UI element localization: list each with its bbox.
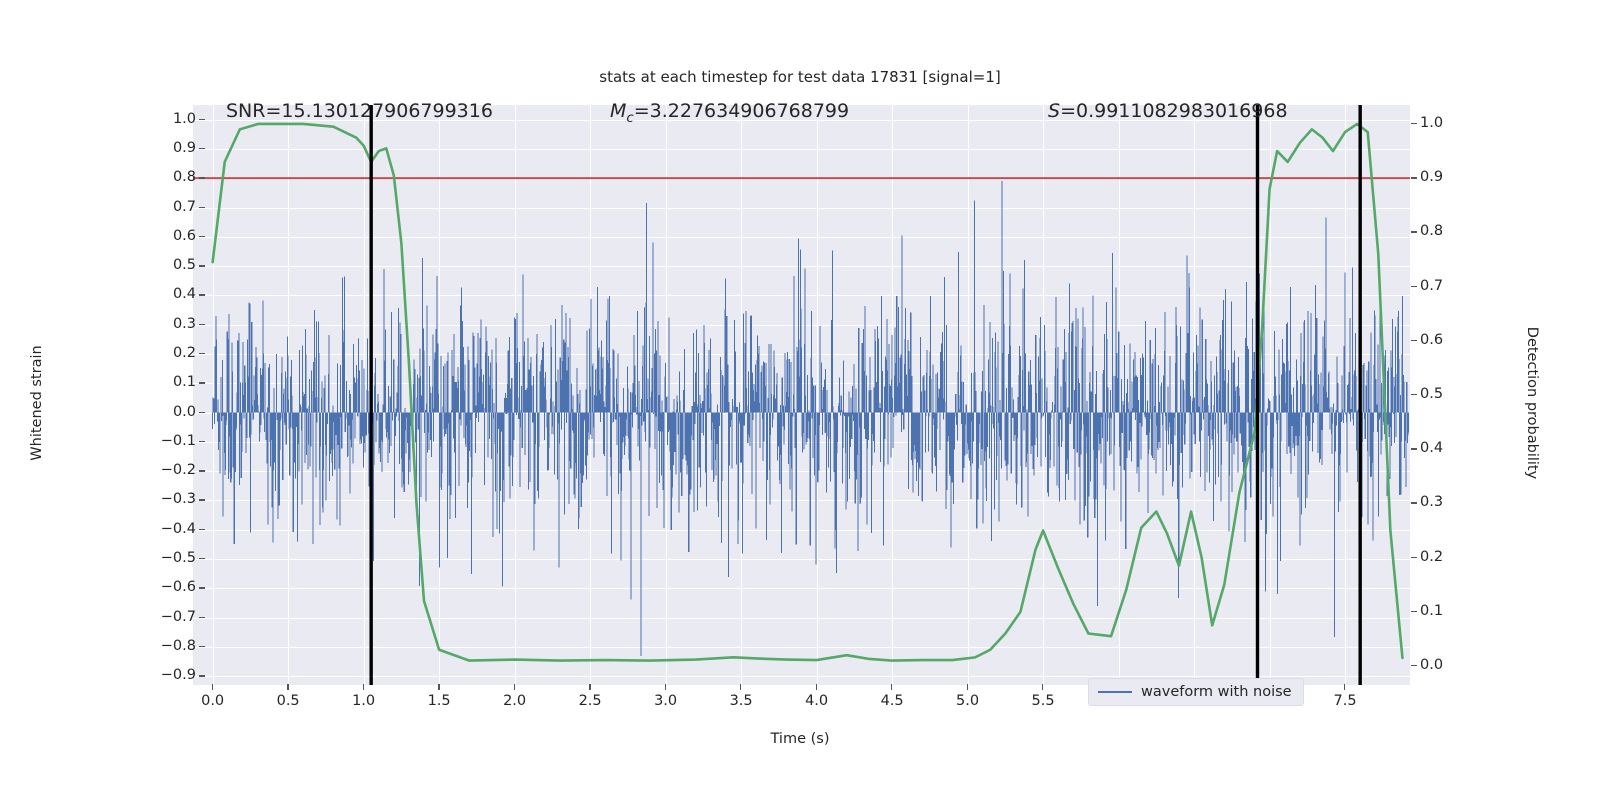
annotation-score: S=0.9911082983016968 (1048, 100, 1288, 122)
y-tick-right: 0.8 (1420, 223, 1490, 239)
matplotlib-figure: stats at each timestep for test data 178… (0, 0, 1600, 800)
y-tick-right: 0.4 (1420, 440, 1490, 456)
y-tick-left: 1.0 (136, 111, 196, 127)
y-tick-left: 0.1 (136, 374, 196, 390)
x-tick: 2.5 (555, 693, 625, 709)
annotation-snr-value: 15.130127906799316 (281, 100, 493, 122)
x-tick: 3.5 (706, 693, 776, 709)
y-tick-left: −0.3 (136, 491, 196, 507)
y-tick-left: 0.0 (136, 404, 196, 420)
y-tick-left: −0.5 (136, 550, 196, 566)
x-tick: 3.0 (631, 693, 701, 709)
x-tick: 4.0 (782, 693, 852, 709)
x-tick: 1.5 (404, 693, 474, 709)
y-tick-right: 0.6 (1420, 332, 1490, 348)
y-tick-left: −0.6 (136, 579, 196, 595)
y-tick-right: 0.3 (1420, 494, 1490, 510)
plot-area (193, 105, 1410, 685)
y-tick-left: 0.5 (136, 257, 196, 273)
y-tick-right: 1.0 (1420, 115, 1490, 131)
y-tick-right: 0.0 (1420, 657, 1490, 673)
x-tick: 0.0 (178, 693, 248, 709)
y-tick-left: 0.8 (136, 169, 196, 185)
annotation-s-value: 0.9911082983016968 (1076, 100, 1288, 122)
y-tick-left: −0.8 (136, 638, 196, 654)
y-tick-right: 0.1 (1420, 603, 1490, 619)
y-axis-label-left: Whitened strain (29, 303, 45, 503)
y-tick-left: 0.4 (136, 286, 196, 302)
annotation-s-equals: = (1060, 100, 1076, 122)
legend: waveform with noise (1088, 678, 1304, 706)
y-axis-label-right: Detection probability (1524, 303, 1540, 503)
annotation-mc-symbol: M (610, 100, 626, 122)
x-tick: 7.5 (1310, 693, 1380, 709)
x-tick: 5.0 (933, 693, 1003, 709)
y-tick-left: −0.4 (136, 521, 196, 537)
x-tick: 2.0 (480, 693, 550, 709)
page-title: stats at each timestep for test data 178… (0, 68, 1600, 86)
annotation-chirp-mass: Mc=3.227634906768799 (610, 100, 849, 126)
legend-label-waveform: waveform with noise (1141, 684, 1292, 700)
overlay-series (193, 105, 1410, 685)
legend-swatch-waveform (1098, 691, 1132, 694)
y-tick-left: 0.3 (136, 316, 196, 332)
y-tick-right: 0.2 (1420, 549, 1490, 565)
y-tick-right: 0.9 (1420, 169, 1490, 185)
x-tick: 5.5 (1008, 693, 1078, 709)
annotation-s-symbol: S (1048, 100, 1060, 122)
annotation-mc-equals: = (634, 100, 650, 122)
y-tick-left: 0.2 (136, 345, 196, 361)
x-tick: 0.5 (253, 693, 323, 709)
annotation-mc-value: 3.227634906768799 (650, 100, 849, 122)
y-tick-right: 0.7 (1420, 278, 1490, 294)
y-tick-left: −0.1 (136, 433, 196, 449)
y-tick-right: 0.5 (1420, 386, 1490, 402)
annotation-snr: SNR=15.130127906799316 (226, 100, 493, 122)
x-tick: 1.0 (329, 693, 399, 709)
y-tick-left: 0.9 (136, 140, 196, 156)
annotation-snr-label: SNR= (226, 100, 281, 122)
x-axis-label: Time (s) (0, 731, 1600, 747)
x-tick: 4.5 (857, 693, 927, 709)
detection-probability-curve (213, 124, 1403, 661)
y-tick-left: −0.2 (136, 462, 196, 478)
y-tick-left: −0.7 (136, 609, 196, 625)
y-tick-left: 0.6 (136, 228, 196, 244)
y-tick-left: −0.9 (136, 667, 196, 683)
annotation-mc-subscript: c (626, 111, 633, 126)
y-tick-left: 0.7 (136, 199, 196, 215)
